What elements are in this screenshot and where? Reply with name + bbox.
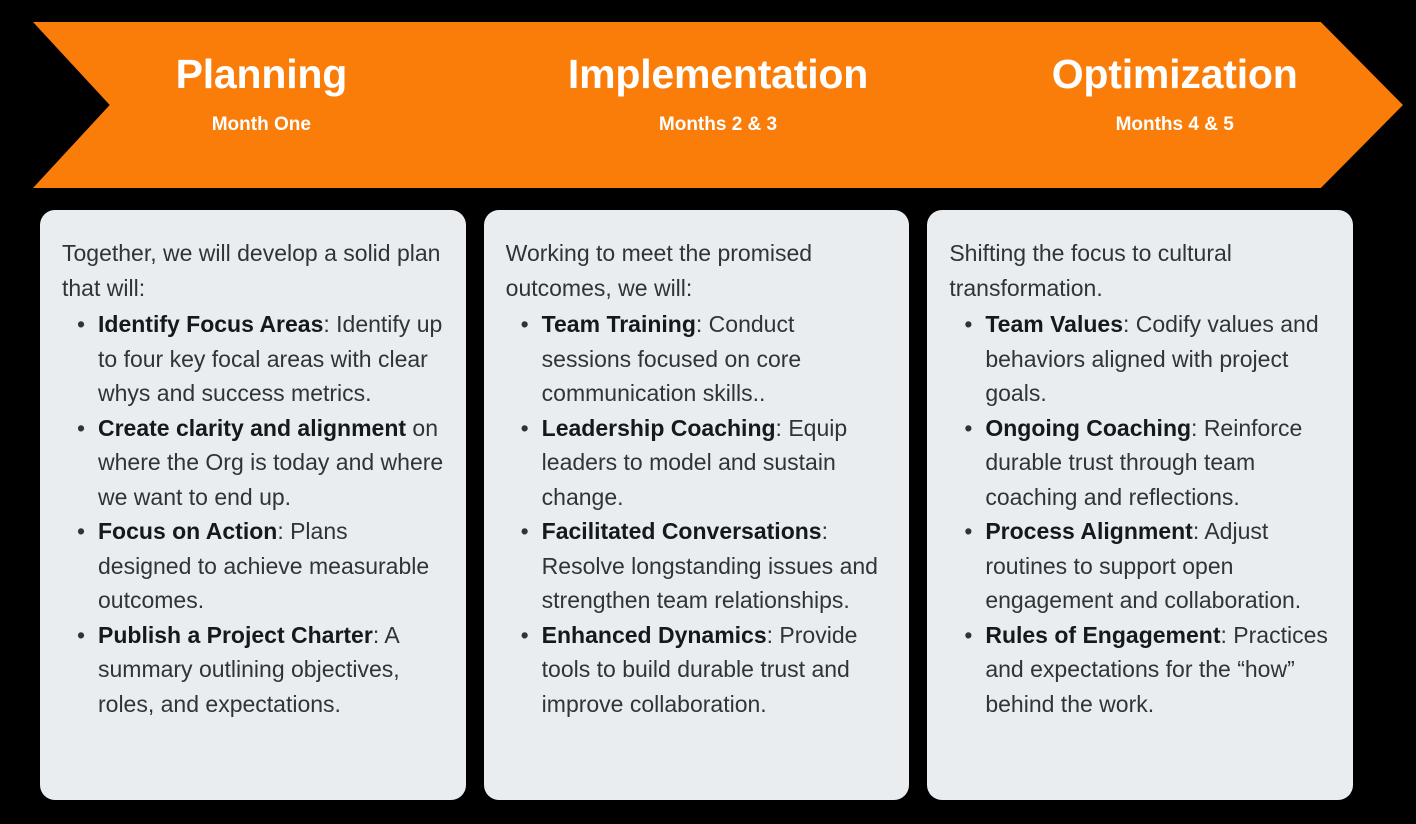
list-item: •Process Alignment: Adjust routines to s… bbox=[949, 514, 1331, 618]
bullet-icon: • bbox=[964, 411, 972, 446]
phase-banner: Planning Month One Implementation Months… bbox=[33, 22, 1403, 188]
bullet-icon: • bbox=[964, 618, 972, 653]
list-item-term: Rules of Engagement bbox=[985, 622, 1220, 648]
list-item-term: Focus on Action bbox=[98, 518, 277, 544]
list-item: •Enhanced Dynamics: Provide tools to bui… bbox=[506, 618, 888, 722]
card-intro: Working to meet the promised outcomes, w… bbox=[506, 236, 888, 305]
list-item-term: Facilitated Conversations bbox=[542, 518, 822, 544]
list-item: •Facilitated Conversations: Resolve long… bbox=[506, 514, 888, 618]
list-item-term: Ongoing Coaching bbox=[985, 415, 1191, 441]
list-item-term: Enhanced Dynamics bbox=[542, 622, 767, 648]
phase-title: Implementation bbox=[490, 52, 947, 96]
list-item-term: Publish a Project Charter bbox=[98, 622, 373, 648]
bullet-icon: • bbox=[521, 411, 529, 446]
card-bullet-list: •Identify Focus Areas: Identify up to fo… bbox=[62, 307, 444, 721]
list-item: •Publish a Project Charter: A summary ou… bbox=[62, 618, 444, 722]
bullet-icon: • bbox=[77, 411, 85, 446]
bullet-icon: • bbox=[964, 514, 972, 549]
card-bullet-list: •Team Values: Codify values and behavior… bbox=[949, 307, 1331, 721]
phase-header-implementation: Implementation Months 2 & 3 bbox=[490, 22, 947, 136]
phase-subtitle: Month One bbox=[33, 115, 490, 136]
bullet-icon: • bbox=[77, 514, 85, 549]
list-item: •Focus on Action: Plans designed to achi… bbox=[62, 514, 444, 618]
phase-title: Planning bbox=[33, 52, 490, 96]
list-item: •Rules of Engagement: Practices and expe… bbox=[949, 618, 1331, 722]
card-bullet-list: •Team Training: Conduct sessions focused… bbox=[506, 307, 888, 721]
phase-card-optimization: Shifting the focus to cultural transform… bbox=[927, 210, 1353, 800]
list-item: •Ongoing Coaching: Reinforce durable tru… bbox=[949, 411, 1331, 515]
bullet-icon: • bbox=[77, 307, 85, 342]
phase-title: Optimization bbox=[946, 52, 1403, 96]
list-item-term: Identify Focus Areas bbox=[98, 311, 323, 337]
list-item-term: Create clarity and alignment bbox=[98, 415, 406, 441]
bullet-icon: • bbox=[77, 618, 85, 653]
bullet-icon: • bbox=[964, 307, 972, 342]
roadmap-infographic: Planning Month One Implementation Months… bbox=[0, 0, 1416, 824]
card-intro: Shifting the focus to cultural transform… bbox=[949, 236, 1331, 305]
phase-cards: Together, we will develop a solid plan t… bbox=[40, 210, 1353, 800]
list-item-term: Process Alignment bbox=[985, 518, 1192, 544]
phase-subtitle: Months 4 & 5 bbox=[946, 115, 1403, 136]
phase-card-planning: Together, we will develop a solid plan t… bbox=[40, 210, 466, 800]
list-item-term: Leadership Coaching bbox=[542, 415, 776, 441]
phase-header-optimization: Optimization Months 4 & 5 bbox=[946, 22, 1403, 136]
phase-header-planning: Planning Month One bbox=[33, 22, 490, 136]
list-item: •Team Values: Codify values and behavior… bbox=[949, 307, 1331, 411]
phase-card-implementation: Working to meet the promised outcomes, w… bbox=[484, 210, 910, 800]
list-item-term: Team Training bbox=[542, 311, 696, 337]
list-item: •Leadership Coaching: Equip leaders to m… bbox=[506, 411, 888, 515]
list-item-term: Team Values bbox=[985, 311, 1123, 337]
bullet-icon: • bbox=[521, 307, 529, 342]
card-intro: Together, we will develop a solid plan t… bbox=[62, 236, 444, 305]
phase-subtitle: Months 2 & 3 bbox=[490, 115, 947, 136]
list-item: •Team Training: Conduct sessions focused… bbox=[506, 307, 888, 411]
list-item: •Identify Focus Areas: Identify up to fo… bbox=[62, 307, 444, 411]
bullet-icon: • bbox=[521, 514, 529, 549]
bullet-icon: • bbox=[521, 618, 529, 653]
list-item: •Create clarity and alignment on where t… bbox=[62, 411, 444, 515]
